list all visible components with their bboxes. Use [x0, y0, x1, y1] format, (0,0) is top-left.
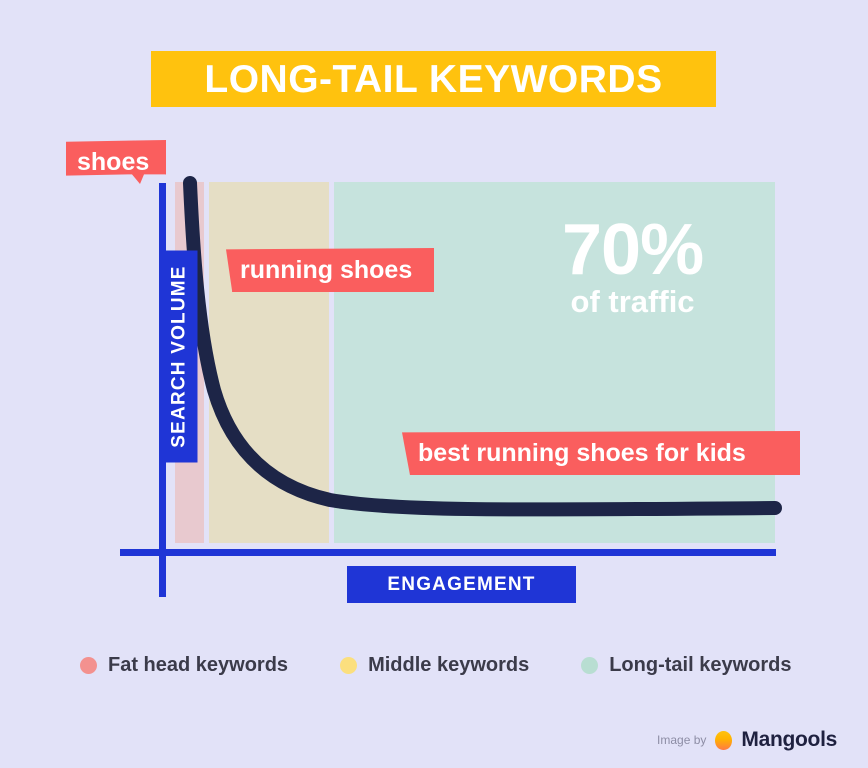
legend-dot-icon — [581, 657, 598, 674]
legend-label: Middle keywords — [368, 654, 529, 677]
x-axis-label: ENGAGEMENT — [347, 566, 576, 603]
legend-label: Fat head keywords — [108, 654, 288, 677]
attribution-brand: Mangools — [741, 728, 837, 752]
x-axis-label-text: ENGAGEMENT — [387, 574, 535, 596]
zone-long-tail-keywords — [334, 182, 775, 543]
callout-running-shoes: running shoes — [226, 248, 434, 292]
mangools-logo-icon — [715, 731, 732, 750]
callout-best-running-shoes-for-kids-label: best running shoes for kids — [418, 439, 746, 468]
legend-item-middle-keywords: Middle keywords — [340, 654, 529, 677]
callout-running-shoes-label: running shoes — [240, 256, 412, 285]
callout-best-running-shoes-for-kids: best running shoes for kids — [402, 431, 800, 475]
callout-shoes: shoes — [66, 140, 166, 184]
legend-item-long-tail-keywords: Long-tail keywords — [581, 654, 791, 677]
chart-legend: Fat head keywords Middle keywords Long-t… — [80, 650, 800, 680]
callout-shoes-label: shoes — [77, 148, 149, 177]
y-axis-label-text: SEARCH VOLUME — [168, 265, 190, 447]
legend-dot-icon — [80, 657, 97, 674]
attribution-footer: Image by Mangools — [657, 728, 837, 752]
legend-dot-icon — [340, 657, 357, 674]
legend-item-fat-head-keywords: Fat head keywords — [80, 654, 288, 677]
zone-middle-keywords — [209, 182, 329, 543]
x-axis-line — [120, 549, 776, 556]
legend-label: Long-tail keywords — [609, 654, 791, 677]
y-axis-label: SEARCH VOLUME — [161, 251, 198, 463]
attribution-prefix: Image by — [657, 733, 706, 747]
